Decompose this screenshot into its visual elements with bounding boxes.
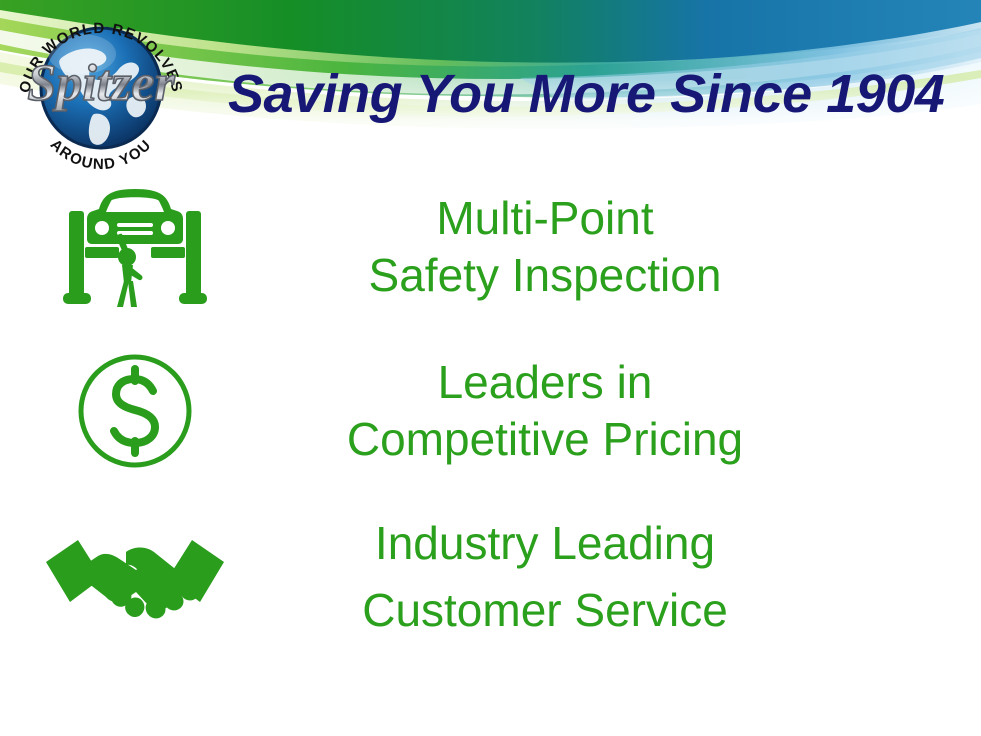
feature-line: Industry Leading <box>250 510 840 577</box>
feature-row-customer-service: Industry Leading Customer Service <box>20 498 900 656</box>
feature-label-safety-inspection: Multi-Point Safety Inspection <box>250 190 900 303</box>
feature-line: Customer Service <box>250 577 840 644</box>
feature-line: Safety Inspection <box>250 247 840 304</box>
feature-row-competitive-pricing: Leaders in Competitive Pricing <box>20 336 900 486</box>
slide-canvas: OUR WORLD REVOLVES AROUND YOU Spitzer Sa… <box>0 0 981 736</box>
feature-line: Leaders in <box>250 354 840 411</box>
feature-label-competitive-pricing: Leaders in Competitive Pricing <box>250 354 900 467</box>
svg-text:Spitzer: Spitzer <box>27 55 175 112</box>
spitzer-logo[interactable]: OUR WORLD REVOLVES AROUND YOU Spitzer <box>6 2 196 174</box>
feature-line: Multi-Point <box>250 190 840 247</box>
page-title: Saving You More Since 1904 <box>228 66 968 123</box>
feature-list: Multi-Point Safety Inspection Leaders in… <box>0 168 981 678</box>
feature-line: Competitive Pricing <box>250 411 840 468</box>
car-lift-icon <box>20 181 250 313</box>
dollar-circle-icon <box>20 347 250 475</box>
logo-wordmark: Spitzer <box>27 55 175 112</box>
feature-label-customer-service: Industry Leading Customer Service <box>250 510 900 643</box>
feature-row-safety-inspection: Multi-Point Safety Inspection <box>20 172 900 322</box>
handshake-icon <box>20 518 250 636</box>
